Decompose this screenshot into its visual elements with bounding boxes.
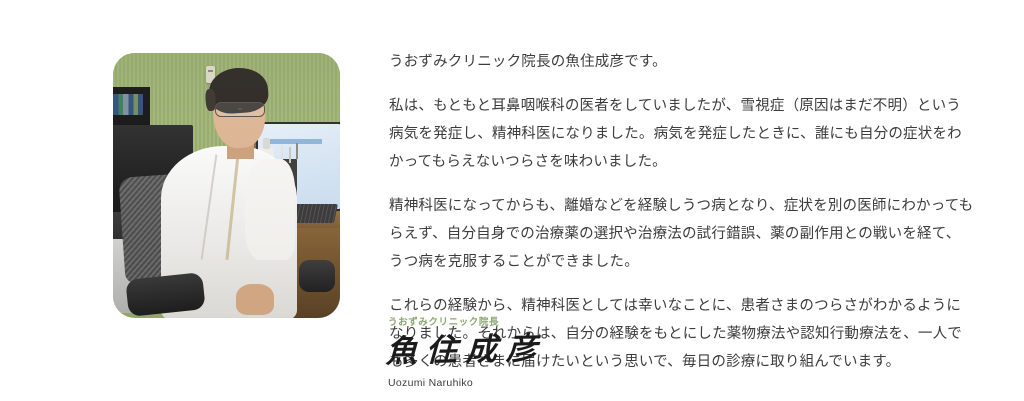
doctor-photo: [113, 53, 340, 318]
photo-glasses: [215, 102, 265, 117]
page-root: うおずみクリニック院長の魚住成彦です。 私は、もともと耳鼻咽喉科の医者をしていま…: [0, 0, 1024, 401]
paragraph-depression: 精神科医になってからも、離婚などを経験しうつ病となり、症状を別の医師にわかっても…: [389, 192, 974, 276]
photo-chair-arm-right: [299, 260, 335, 292]
paragraph-history: 私は、もともと耳鼻咽喉科の医者をしていましたが、雪視症（原因はまだ不明）という病…: [389, 92, 974, 176]
photo-coat-shoulder: [245, 159, 295, 260]
photo-books: [113, 94, 143, 115]
photo-chair-arm-left: [125, 272, 206, 317]
photo-illustration: [113, 53, 340, 318]
paragraph-intro: うおずみクリニック院長の魚住成彦です。: [389, 48, 974, 76]
signature-romaji: Uozumi Naruhiko: [388, 376, 686, 390]
signature-handwritten-name: 魚住成彦: [385, 325, 687, 373]
photo-hands: [236, 284, 275, 316]
signature-block: うおずみクリニック院長 魚住成彦 Uozumi Naruhiko: [386, 316, 686, 390]
